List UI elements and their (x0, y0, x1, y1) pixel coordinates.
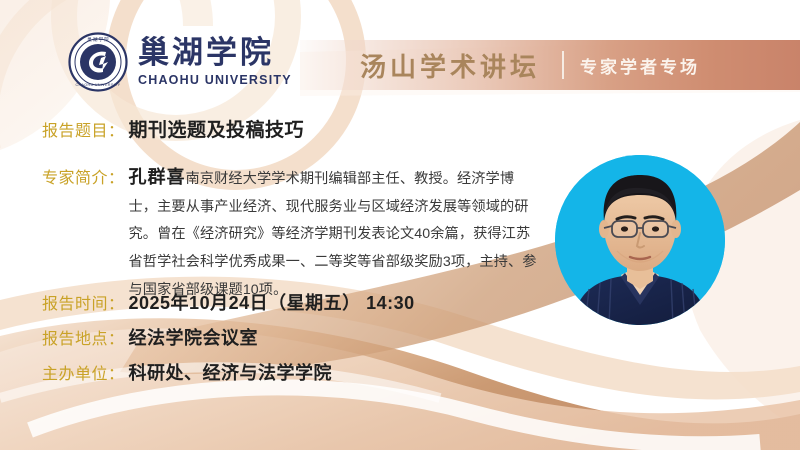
lecture-time-row: 报告时间： 2025年10月24日（星期五） 14:30 (42, 289, 415, 315)
banner-subtitle: 专家学者专场 (580, 53, 700, 78)
lecture-host-label: 主办单位： (42, 360, 125, 384)
speaker-bio-row: 专家简介： 孔群喜南京财经大学学术期刊编辑部主任、教授。经济学博士，主要从事产业… (42, 163, 539, 304)
lecture-host-row: 主办单位： 科研处、经济与法学学院 (42, 359, 332, 385)
speaker-bio-body: 孔群喜南京财经大学学术期刊编辑部主任、教授。经济学博士，主要从事产业经济、现代服… (129, 163, 539, 304)
speaker-portrait (555, 155, 725, 325)
institution-name-cn: 巢湖学院 (138, 37, 292, 70)
lecture-host-value: 科研处、经济与法学学院 (129, 359, 333, 385)
banner-divider (562, 51, 564, 79)
speaker-bio-text: 南京财经大学学术期刊编辑部主任、教授。经济学博士，主要从事产业经济、现代服务业与… (129, 171, 537, 298)
lecture-title-value: 期刊选题及投稿技巧 (129, 115, 305, 142)
institution-name-en: CHAOHU UNIVERSITY (138, 73, 292, 87)
lecture-place-row: 报告地点： 经法学院会议室 (42, 324, 258, 350)
lecture-series-banner: 汤山学术讲坛 专家学者专场 (300, 40, 800, 90)
banner-main-title: 汤山学术讲坛 (360, 47, 540, 84)
lecture-title-row: 报告题目： 期刊选题及投稿技巧 (42, 115, 304, 142)
lecture-time-label: 报告时间： (42, 290, 125, 314)
seminar-poster: 巢 湖 学 院 CHAOHU UNIVERSITY 巢湖学院 CHAOHU UN… (0, 0, 800, 450)
lecture-place-value: 经法学院会议室 (129, 324, 259, 350)
speaker-name: 孔群喜 (129, 167, 186, 187)
institution-names: 巢湖学院 CHAOHU UNIVERSITY (138, 37, 292, 87)
lecture-place-label: 报告地点： (42, 325, 125, 349)
lecture-time-value: 2025年10月24日（星期五） 14:30 (129, 289, 415, 315)
poster-header: 巢 湖 学 院 CHAOHU UNIVERSITY 巢湖学院 CHAOHU UN… (0, 0, 800, 105)
svg-text:CHAOHU UNIVERSITY: CHAOHU UNIVERSITY (76, 83, 121, 87)
speaker-bio-label: 专家简介： (42, 167, 125, 192)
lecture-title-label: 报告题目： (42, 117, 125, 141)
svg-text:巢 湖 学 院: 巢 湖 学 院 (87, 36, 109, 43)
institution-logo-block: 巢 湖 学 院 CHAOHU UNIVERSITY 巢湖学院 CHAOHU UN… (68, 32, 292, 92)
university-seal-icon: 巢 湖 学 院 CHAOHU UNIVERSITY (68, 32, 128, 92)
